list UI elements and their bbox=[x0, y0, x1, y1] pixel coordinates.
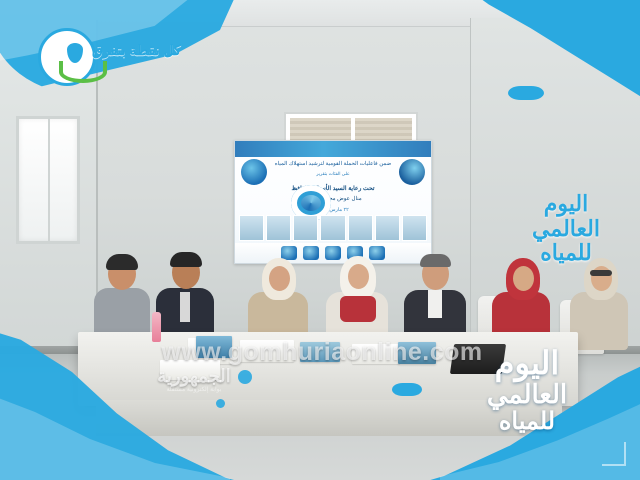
event-banner: ضمن فاعليات الحملة القومية لترشيد استهلا… bbox=[234, 140, 432, 264]
person-2-shirt bbox=[180, 292, 190, 322]
banner-photo-strip bbox=[239, 215, 427, 241]
banner-line-5: ٢٢ مارس ٢٠٢٤ bbox=[235, 207, 431, 213]
bubble-icon bbox=[216, 399, 225, 408]
banner-line-2: على الفئات بتقرير bbox=[235, 171, 431, 177]
banner-photo bbox=[402, 215, 427, 241]
person-5-hair bbox=[420, 254, 451, 267]
banner-line-1: ضمن فاعليات الحملة القومية لترشيد استهلا… bbox=[235, 161, 431, 167]
headline-bottom-line-3: للمياه bbox=[424, 409, 630, 434]
banner-photo bbox=[239, 215, 264, 241]
water-drop-icon bbox=[67, 43, 83, 63]
person-3-head bbox=[269, 266, 290, 291]
droplet-icon bbox=[508, 86, 544, 100]
frame-corner-bottom-right bbox=[602, 442, 626, 466]
banner-header-bar bbox=[235, 141, 431, 157]
headline-bottom-line-2: العالمي bbox=[424, 381, 630, 409]
hands-icon bbox=[59, 61, 107, 83]
screenshot-root: ضمن فاعليات الحملة القومية لترشيد استهلا… bbox=[0, 0, 640, 480]
person-1-hair bbox=[106, 254, 138, 270]
campaign-logo: كل نقطة بتفرق bbox=[26, 24, 156, 86]
sponsor-logo-icon bbox=[303, 246, 319, 260]
banner-photo bbox=[348, 215, 373, 241]
person-2-hair bbox=[170, 252, 202, 267]
banner-photo bbox=[266, 215, 291, 241]
banner-photo bbox=[375, 215, 400, 241]
sponsor-logo-icon bbox=[325, 246, 341, 260]
watermark-arabic: الجمهورية bbox=[134, 366, 254, 387]
watermark-subtitle: بوابة إلكترونية مستقلة bbox=[126, 386, 262, 393]
person-4-scarf bbox=[340, 296, 376, 322]
banner-line-4: منال عوض محافظ دمياط bbox=[235, 196, 431, 202]
banner-sponsor-logos bbox=[235, 243, 431, 263]
headline-right-line-2: العالمي bbox=[506, 217, 626, 242]
person-6-head bbox=[513, 266, 534, 291]
person-5-shirt bbox=[428, 290, 442, 318]
logo-ring bbox=[38, 28, 96, 86]
headline-right-line-3: للمياه bbox=[506, 241, 626, 266]
person-4-head bbox=[348, 264, 369, 289]
headline-right: اليوم العالمي للمياه bbox=[506, 192, 626, 266]
person-7-body bbox=[570, 292, 628, 350]
banner-photo bbox=[320, 215, 345, 241]
sponsor-logo-icon bbox=[369, 246, 385, 260]
banner-photo bbox=[293, 215, 318, 241]
headline-right-line-1: اليوم bbox=[506, 192, 626, 217]
person-7-glasses-icon bbox=[590, 270, 612, 276]
droplet-icon bbox=[392, 383, 422, 396]
banner-line-3: تحت رعاية السيد الأستاذ المحافظ bbox=[235, 185, 431, 192]
logo-slogan: كل نقطة بتفرق bbox=[92, 42, 181, 59]
left-window bbox=[16, 116, 80, 244]
watermark-site: www.gomhuriaonline.com bbox=[112, 338, 532, 367]
